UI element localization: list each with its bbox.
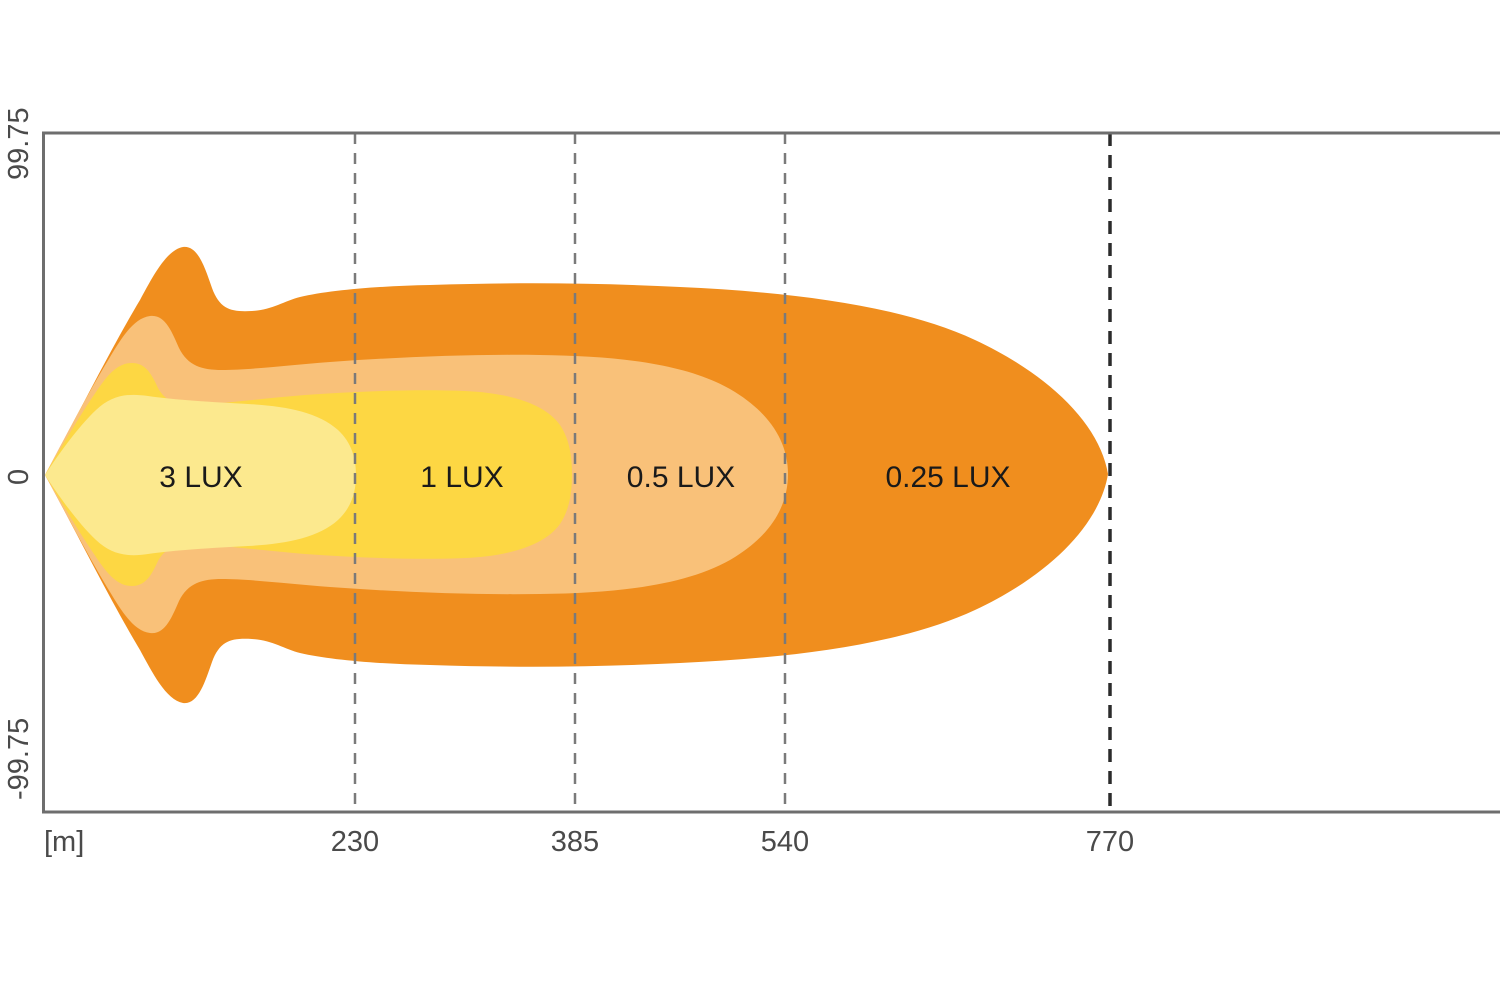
y-tick-label-mid: 0	[3, 469, 35, 485]
x-tick-label-385: 385	[551, 826, 599, 858]
light-distribution-chart: 99.75 0 -99.75 230 385 540 770 [m] 3 LUX…	[0, 0, 1500, 1001]
y-tick-label-bottom: -99.75	[3, 718, 35, 800]
band-label-025lux: 0.25 LUX	[885, 461, 1010, 494]
x-tick-label-540: 540	[761, 826, 809, 858]
chart-canvas: 99.75 0 -99.75 230 385 540 770 [m] 3 LUX…	[0, 0, 1500, 1001]
y-tick-label-top: 99.75	[3, 107, 35, 180]
x-axis-unit-label: [m]	[44, 826, 84, 858]
band-label-05lux: 0.5 LUX	[627, 461, 735, 494]
x-tick-label-770: 770	[1086, 826, 1134, 858]
band-label-1lux: 1 LUX	[420, 461, 503, 494]
x-tick-label-230: 230	[331, 826, 379, 858]
band-label-3lux: 3 LUX	[159, 461, 242, 494]
